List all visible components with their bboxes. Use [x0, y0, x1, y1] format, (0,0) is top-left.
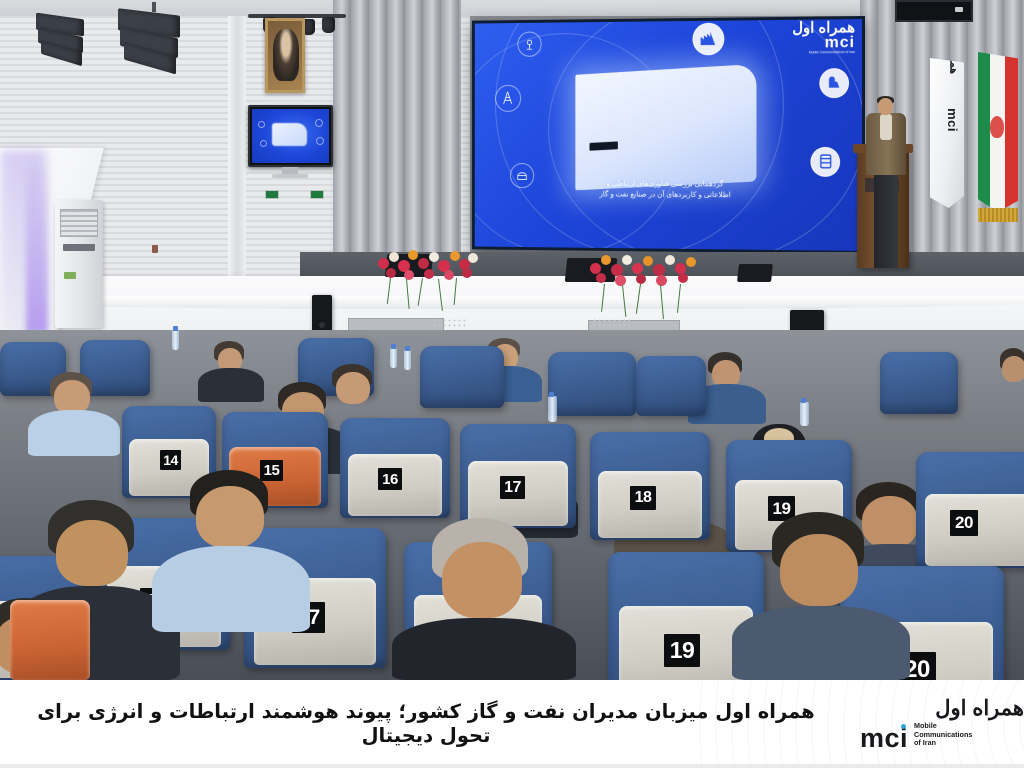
- speaker-body: [866, 113, 906, 175]
- screenshot-root: همراه اول mci Mobile Communications of I…: [0, 0, 1024, 768]
- projection-screen: همراه اول mci Mobile Communications of I…: [472, 16, 865, 254]
- speaker-legs: [874, 172, 898, 268]
- wall-socket: [152, 245, 158, 253]
- water-bottle: [800, 402, 809, 426]
- speaker-head: [878, 98, 893, 115]
- exit-sign-icon: [265, 190, 279, 199]
- exit-sign-icon: [310, 190, 324, 199]
- seat[interactable]: [880, 352, 958, 414]
- seat[interactable]: [636, 356, 706, 416]
- seat[interactable]: [548, 352, 636, 416]
- event-photo: همراه اول mci Mobile Communications of I…: [0, 0, 1024, 680]
- water-bottle: [390, 348, 397, 368]
- water-bottle: [172, 330, 179, 350]
- air-conditioner: [55, 200, 103, 328]
- brand-tagline-line3: of Iran: [914, 739, 972, 747]
- seat[interactable]: [10, 600, 90, 680]
- seat-number: 15: [260, 460, 283, 481]
- mci-brand-logo: همراه اول mci Mobile Communications of I…: [844, 680, 1024, 768]
- stage-barrier-lip: [0, 296, 1024, 309]
- mci-flag: همراه اول mci: [930, 58, 964, 208]
- seat-number: 14: [160, 450, 181, 470]
- seat-number: 20: [950, 510, 978, 536]
- seat-number: 17: [500, 476, 525, 499]
- seat[interactable]: [420, 346, 504, 408]
- seat[interactable]: 18: [590, 432, 710, 540]
- caption-headline: همراه اول میزبان مدیران نفت و گاز کشور؛ …: [0, 700, 844, 749]
- seat-number: 16: [378, 468, 402, 490]
- brand-name-en: mci: [860, 727, 908, 750]
- seat-number: 19: [664, 634, 700, 667]
- iran-flag: [978, 52, 1018, 212]
- brand-tagline: Mobile Communications of Iran: [914, 722, 972, 749]
- flower-bouquet-left: [376, 246, 486, 294]
- uplight-beam: [26, 168, 48, 333]
- water-bottle: [404, 350, 411, 370]
- brand-dot-icon: [901, 724, 906, 729]
- bottom-edge: [0, 764, 1024, 768]
- line-array-speaker-left: [118, 8, 196, 70]
- iran-flag-fringe: [978, 208, 1018, 222]
- laptop: [737, 264, 773, 282]
- mci-flag-text-en: mci: [945, 108, 960, 132]
- monitor-base: [272, 174, 308, 178]
- caption-bar: همراه اول میزبان مدیران نفت و گاز کشور؛ …: [0, 680, 1024, 768]
- framed-portrait: [265, 18, 305, 93]
- brand-name-fa: همراه اول: [860, 698, 1024, 719]
- seat[interactable]: 16: [340, 418, 450, 518]
- flower-bouquet-right: [588, 250, 706, 300]
- seat[interactable]: 20: [916, 452, 1024, 568]
- spotlight-icon: [322, 17, 335, 33]
- seat[interactable]: 17: [460, 424, 576, 528]
- wall-monitor: [248, 105, 333, 167]
- seat-number: 18: [630, 486, 656, 510]
- overhead-monitor: [895, 0, 973, 22]
- line-array-speaker-far-left: [36, 14, 96, 66]
- water-bottle: [548, 396, 557, 422]
